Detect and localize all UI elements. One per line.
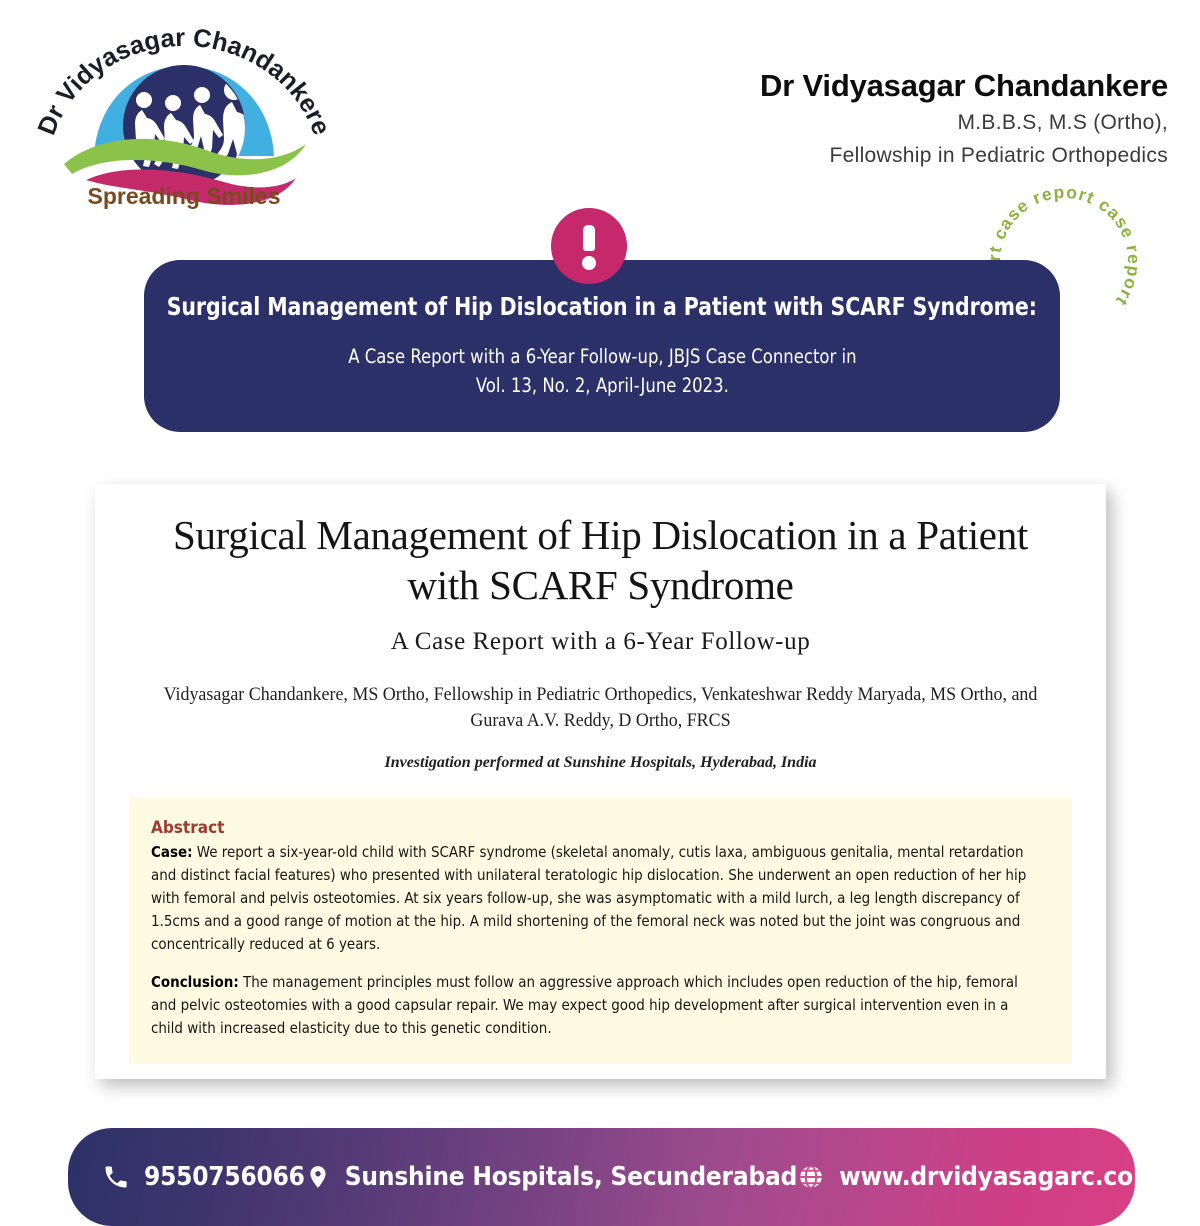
page-header: Dr Vidyasagar Chandankere Spreading Smil…	[0, 0, 1200, 200]
banner-subtitle: A Case Report with a 6-Year Follow-up, J…	[348, 343, 856, 400]
phone-number: 9550756066	[144, 1162, 305, 1192]
clinic-logo: Dr Vidyasagar Chandankere Spreading Smil…	[34, 22, 334, 212]
phone-icon	[102, 1163, 130, 1191]
exclamation-badge	[551, 208, 627, 284]
abstract-box: Abstract Case: We report a six-year-old …	[129, 797, 1072, 1065]
banner-subtitle-line-1: A Case Report with a 6-Year Follow-up, J…	[348, 343, 856, 371]
abstract-conclusion-text: The management principles must follow an…	[151, 973, 1018, 1037]
website-url: www.drvidyasagarc.com	[839, 1162, 1157, 1192]
footer-phone[interactable]: 9550756066	[102, 1162, 305, 1192]
abstract-conclusion-paragraph: Conclusion: The management principles mu…	[151, 971, 1037, 1040]
footer-address[interactable]: Sunshine Hospitals, Secunderabad	[305, 1162, 797, 1192]
abstract-conclusion-label: Conclusion:	[151, 973, 239, 991]
paper-title-line-1: Surgical Management of Hip Dislocation i…	[129, 510, 1072, 560]
address-text: Sunshine Hospitals, Secunderabad	[345, 1162, 797, 1192]
globe-icon	[797, 1163, 825, 1191]
doctor-identity: Dr Vidyasagar Chandankere M.B.B.S, M.S (…	[548, 68, 1168, 171]
abstract-heading: Abstract	[151, 818, 1050, 838]
doctor-credentials-line-2: Fellowship in Pediatric Orthopedics	[548, 142, 1168, 171]
abstract-case-text: We report a six-year-old child with SCAR…	[151, 843, 1026, 953]
paper-authors: Vidyasagar Chandankere, MS Ortho, Fellow…	[143, 682, 1058, 735]
paper-investigation-note: Investigation performed at Sunshine Hosp…	[129, 754, 1072, 772]
paper-authors-line-2: Gurava A.V. Reddy, D Ortho, FRCS	[143, 708, 1058, 734]
exclamation-icon	[582, 221, 596, 271]
footer-website[interactable]: www.drvidyasagarc.com	[797, 1162, 1157, 1192]
banner-title: Surgical Management of Hip Dislocation i…	[167, 292, 1037, 321]
location-pin-icon	[305, 1163, 331, 1191]
banner-subtitle-line-2: Vol. 13, No. 2, April-June 2023.	[348, 372, 856, 400]
paper-title: Surgical Management of Hip Dislocation i…	[129, 510, 1072, 610]
abstract-case-label: Case:	[151, 843, 192, 861]
paper-subtitle: A Case Report with a 6-Year Follow-up	[129, 628, 1072, 656]
paper-title-line-2: with SCARF Syndrome	[129, 560, 1072, 610]
contact-footer-bar: 9550756066 Sunshine Hospitals, Secundera…	[68, 1128, 1135, 1226]
paper-screenshot-card: Surgical Management of Hip Dislocation i…	[95, 484, 1106, 1079]
title-banner: Surgical Management of Hip Dislocation i…	[144, 260, 1060, 432]
doctor-name: Dr Vidyasagar Chandankere	[548, 68, 1168, 104]
abstract-case-paragraph: Case: We report a six-year-old child wit…	[151, 841, 1037, 956]
paper-authors-line-1: Vidyasagar Chandankere, MS Ortho, Fellow…	[143, 682, 1058, 708]
logo-tagline: Spreading Smiles	[87, 183, 280, 209]
doctor-credentials-line-1: M.B.B.S, M.S (Ortho),	[548, 109, 1168, 138]
